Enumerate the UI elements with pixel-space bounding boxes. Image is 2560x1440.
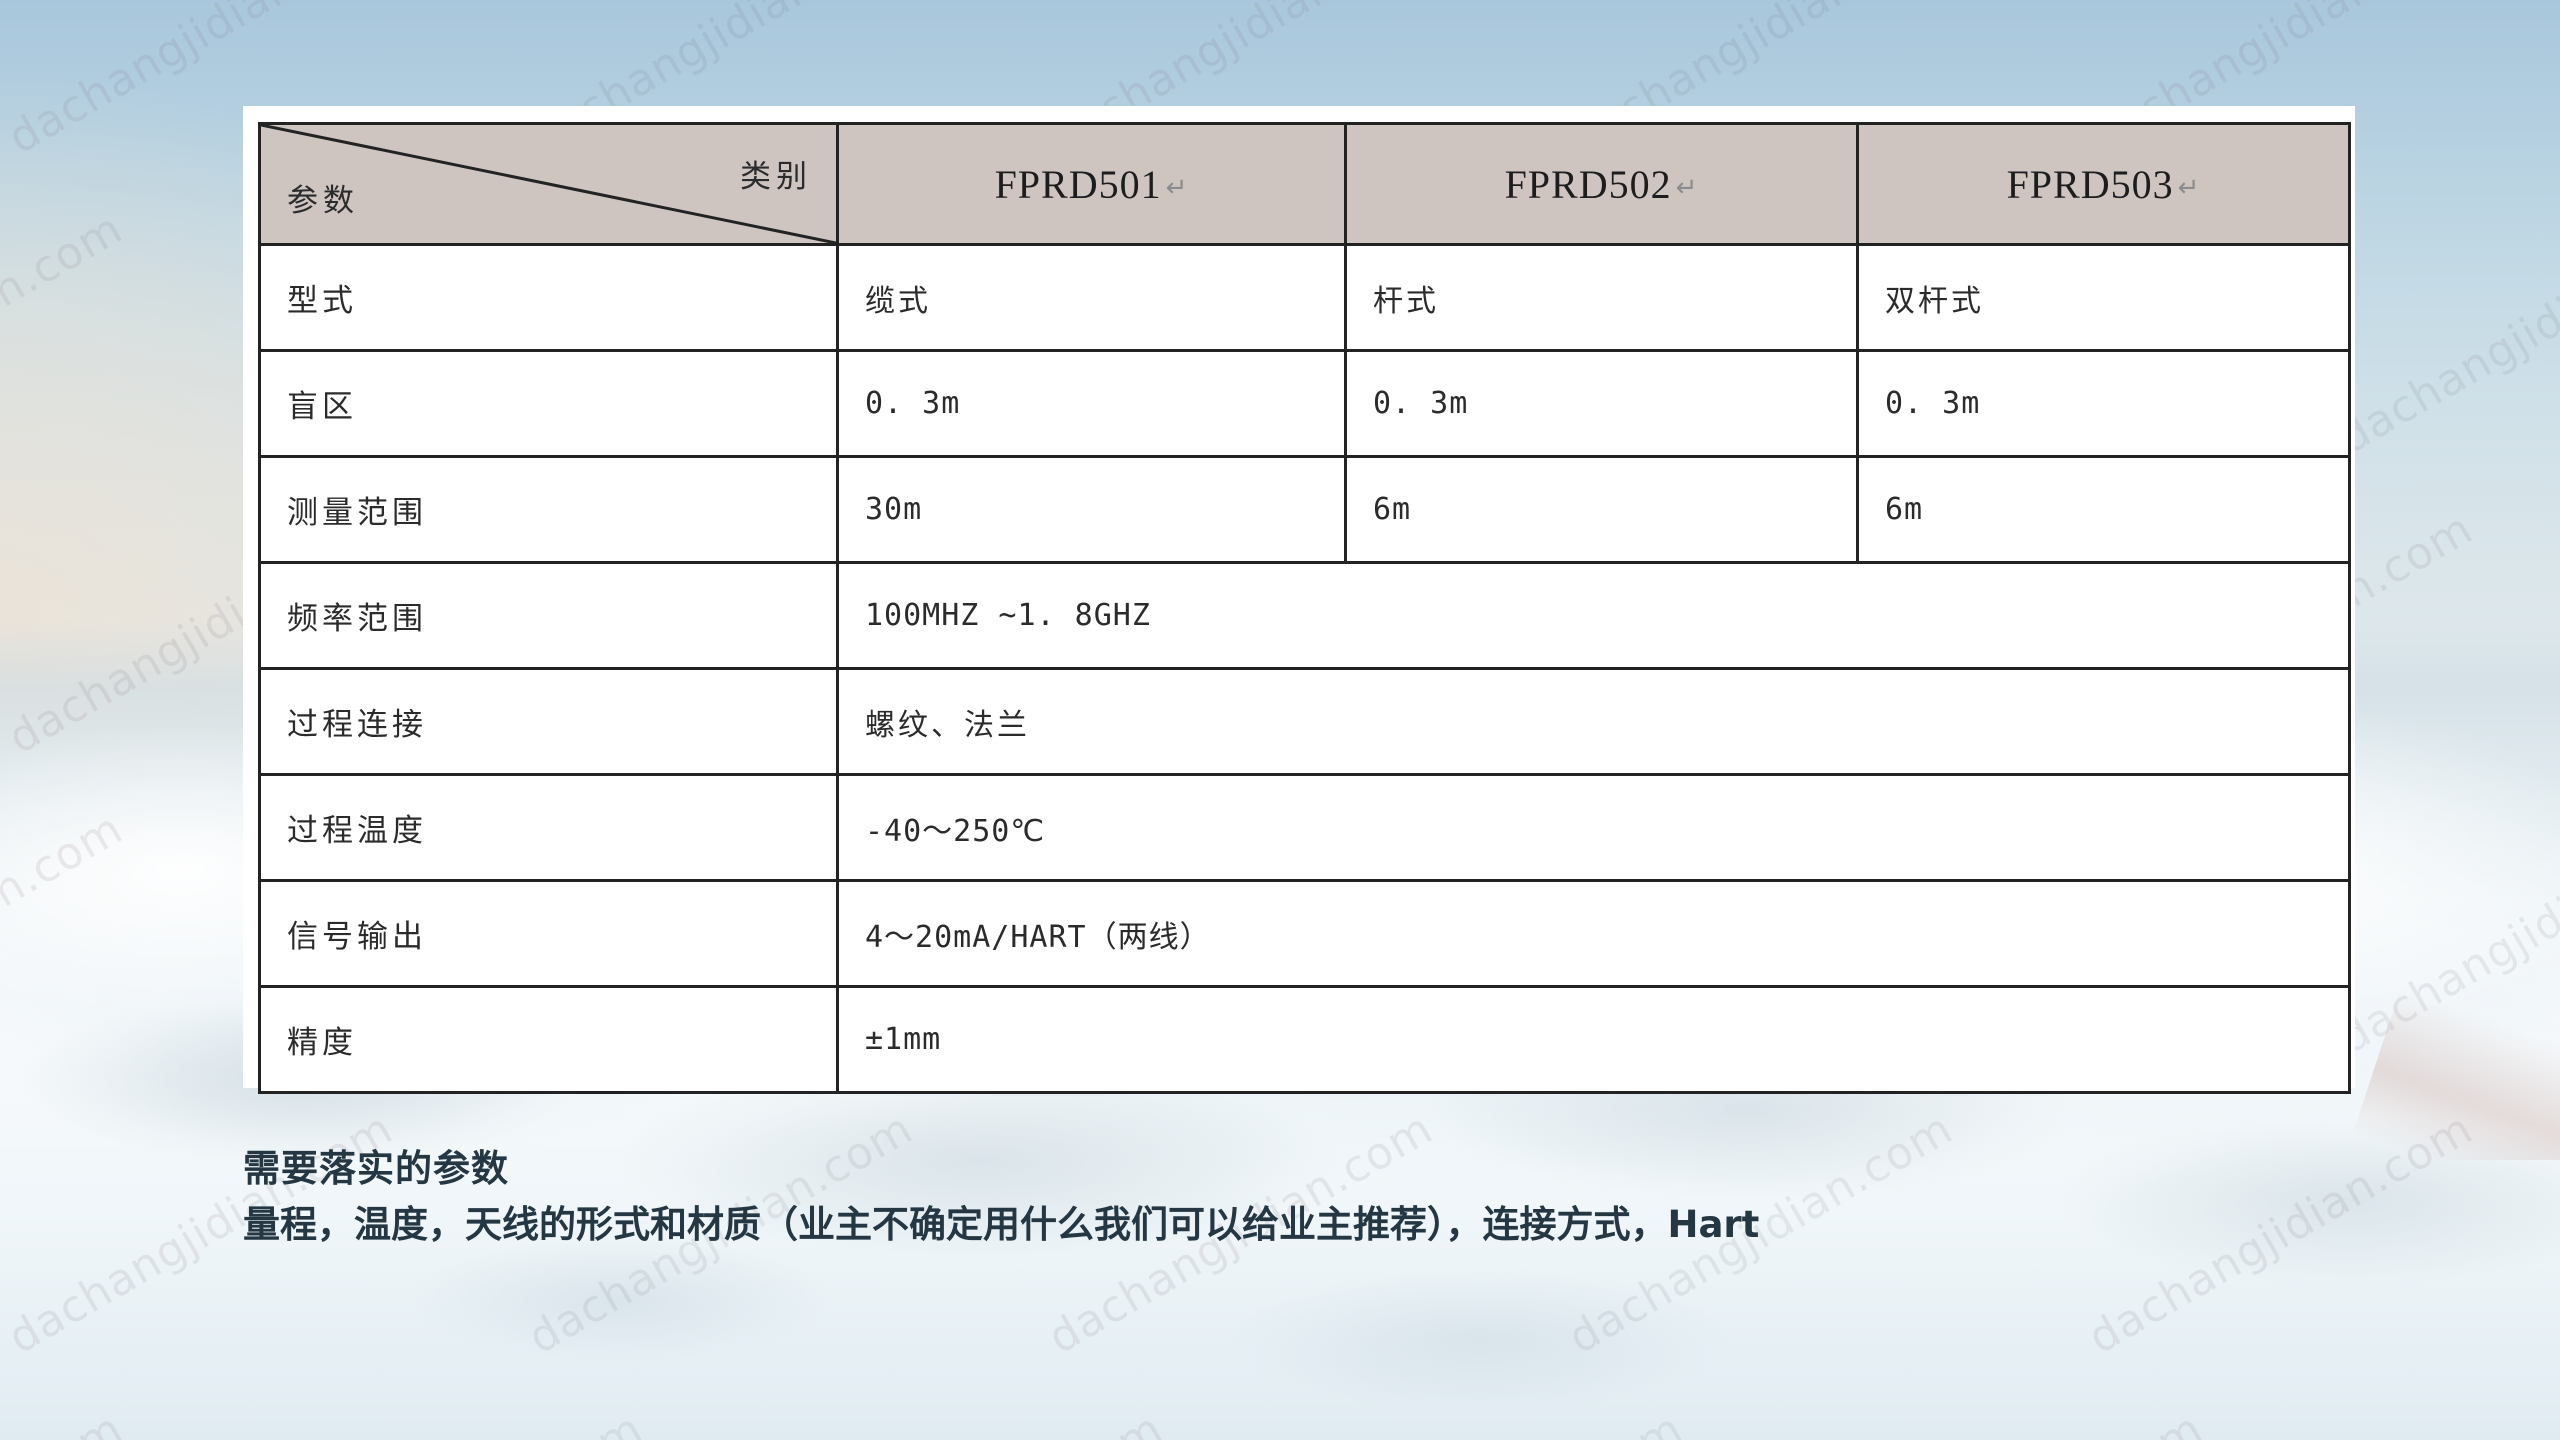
value-cell: 0. 3m — [1858, 351, 2350, 457]
value-cell: 0. 3m — [1346, 351, 1858, 457]
caption-detail: 量程，温度，天线的形式和材质（业主不确定用什么我们可以给业主推荐），连接方式，H… — [243, 1202, 2443, 1248]
value-cell: 6m — [1346, 457, 1858, 563]
table-row: 型式缆式杆式双杆式 — [260, 245, 2350, 351]
line-break-mark-icon: ↵ — [1676, 173, 1699, 203]
value-cell: 双杆式 — [1858, 245, 2350, 351]
corner-header-cell: 参数 类别 — [260, 124, 838, 245]
param-label-cell: 过程连接 — [260, 669, 838, 775]
value-cell: -40～250℃ — [838, 775, 2350, 881]
table-row: 频率范围100MHZ ~1. 8GHZ — [260, 563, 2350, 669]
param-label-cell: 信号输出 — [260, 881, 838, 987]
slide-canvas: dachangjidian.comdachangjidian.comdachan… — [0, 0, 2560, 1440]
value-cell: 杆式 — [1346, 245, 1858, 351]
param-label-cell: 精度 — [260, 987, 838, 1093]
table-row: 测量范围30m6m6m — [260, 457, 2350, 563]
table-body: 型式缆式杆式双杆式盲区0. 3m0. 3m0. 3m测量范围30m6m6m频率范… — [260, 245, 2350, 1093]
value-cell: 缆式 — [838, 245, 1346, 351]
value-cell: ±1mm — [838, 987, 2350, 1093]
specification-table: 参数 类别 FPRD501↵ FPRD502↵ FPRD503↵ 型式缆式杆式双… — [258, 122, 2351, 1094]
table-row: 精度±1mm — [260, 987, 2350, 1093]
model-name-fprd503: FPRD503 — [2007, 162, 2174, 207]
model-name-fprd501: FPRD501 — [995, 162, 1162, 207]
value-cell: 100MHZ ~1. 8GHZ — [838, 563, 2350, 669]
model-header-fprd501: FPRD501↵ — [838, 124, 1346, 245]
line-break-mark-icon: ↵ — [1166, 173, 1189, 203]
param-label-cell: 频率范围 — [260, 563, 838, 669]
corner-category-label: 类别 — [740, 151, 812, 196]
value-cell: 螺纹、法兰 — [838, 669, 2350, 775]
caption-block: 需要落实的参数 量程，温度，天线的形式和材质（业主不确定用什么我们可以给业主推荐… — [243, 1146, 2443, 1249]
value-cell: 0. 3m — [838, 351, 1346, 457]
table-row: 盲区0. 3m0. 3m0. 3m — [260, 351, 2350, 457]
model-header-fprd502: FPRD502↵ — [1346, 124, 1858, 245]
table-header: 参数 类别 FPRD501↵ FPRD502↵ FPRD503↵ — [260, 124, 2350, 245]
value-cell: 6m — [1858, 457, 2350, 563]
model-name-fprd502: FPRD502 — [1505, 162, 1672, 207]
corner-param-label: 参数 — [287, 175, 359, 220]
table-row: 过程连接螺纹、法兰 — [260, 669, 2350, 775]
param-label-cell: 型式 — [260, 245, 838, 351]
param-label-cell: 测量范围 — [260, 457, 838, 563]
param-label-cell: 盲区 — [260, 351, 838, 457]
table-row: 信号输出4～20mA/HART（两线） — [260, 881, 2350, 987]
caption-heading: 需要落实的参数 — [243, 1146, 2443, 1192]
param-label-cell: 过程温度 — [260, 775, 838, 881]
value-cell: 4～20mA/HART（两线） — [838, 881, 2350, 987]
table-row: 过程温度-40～250℃ — [260, 775, 2350, 881]
table-header-row: 参数 类别 FPRD501↵ FPRD502↵ FPRD503↵ — [260, 124, 2350, 245]
model-header-fprd503: FPRD503↵ — [1858, 124, 2350, 245]
line-break-mark-icon: ↵ — [2178, 173, 2201, 203]
value-cell: 30m — [838, 457, 1346, 563]
